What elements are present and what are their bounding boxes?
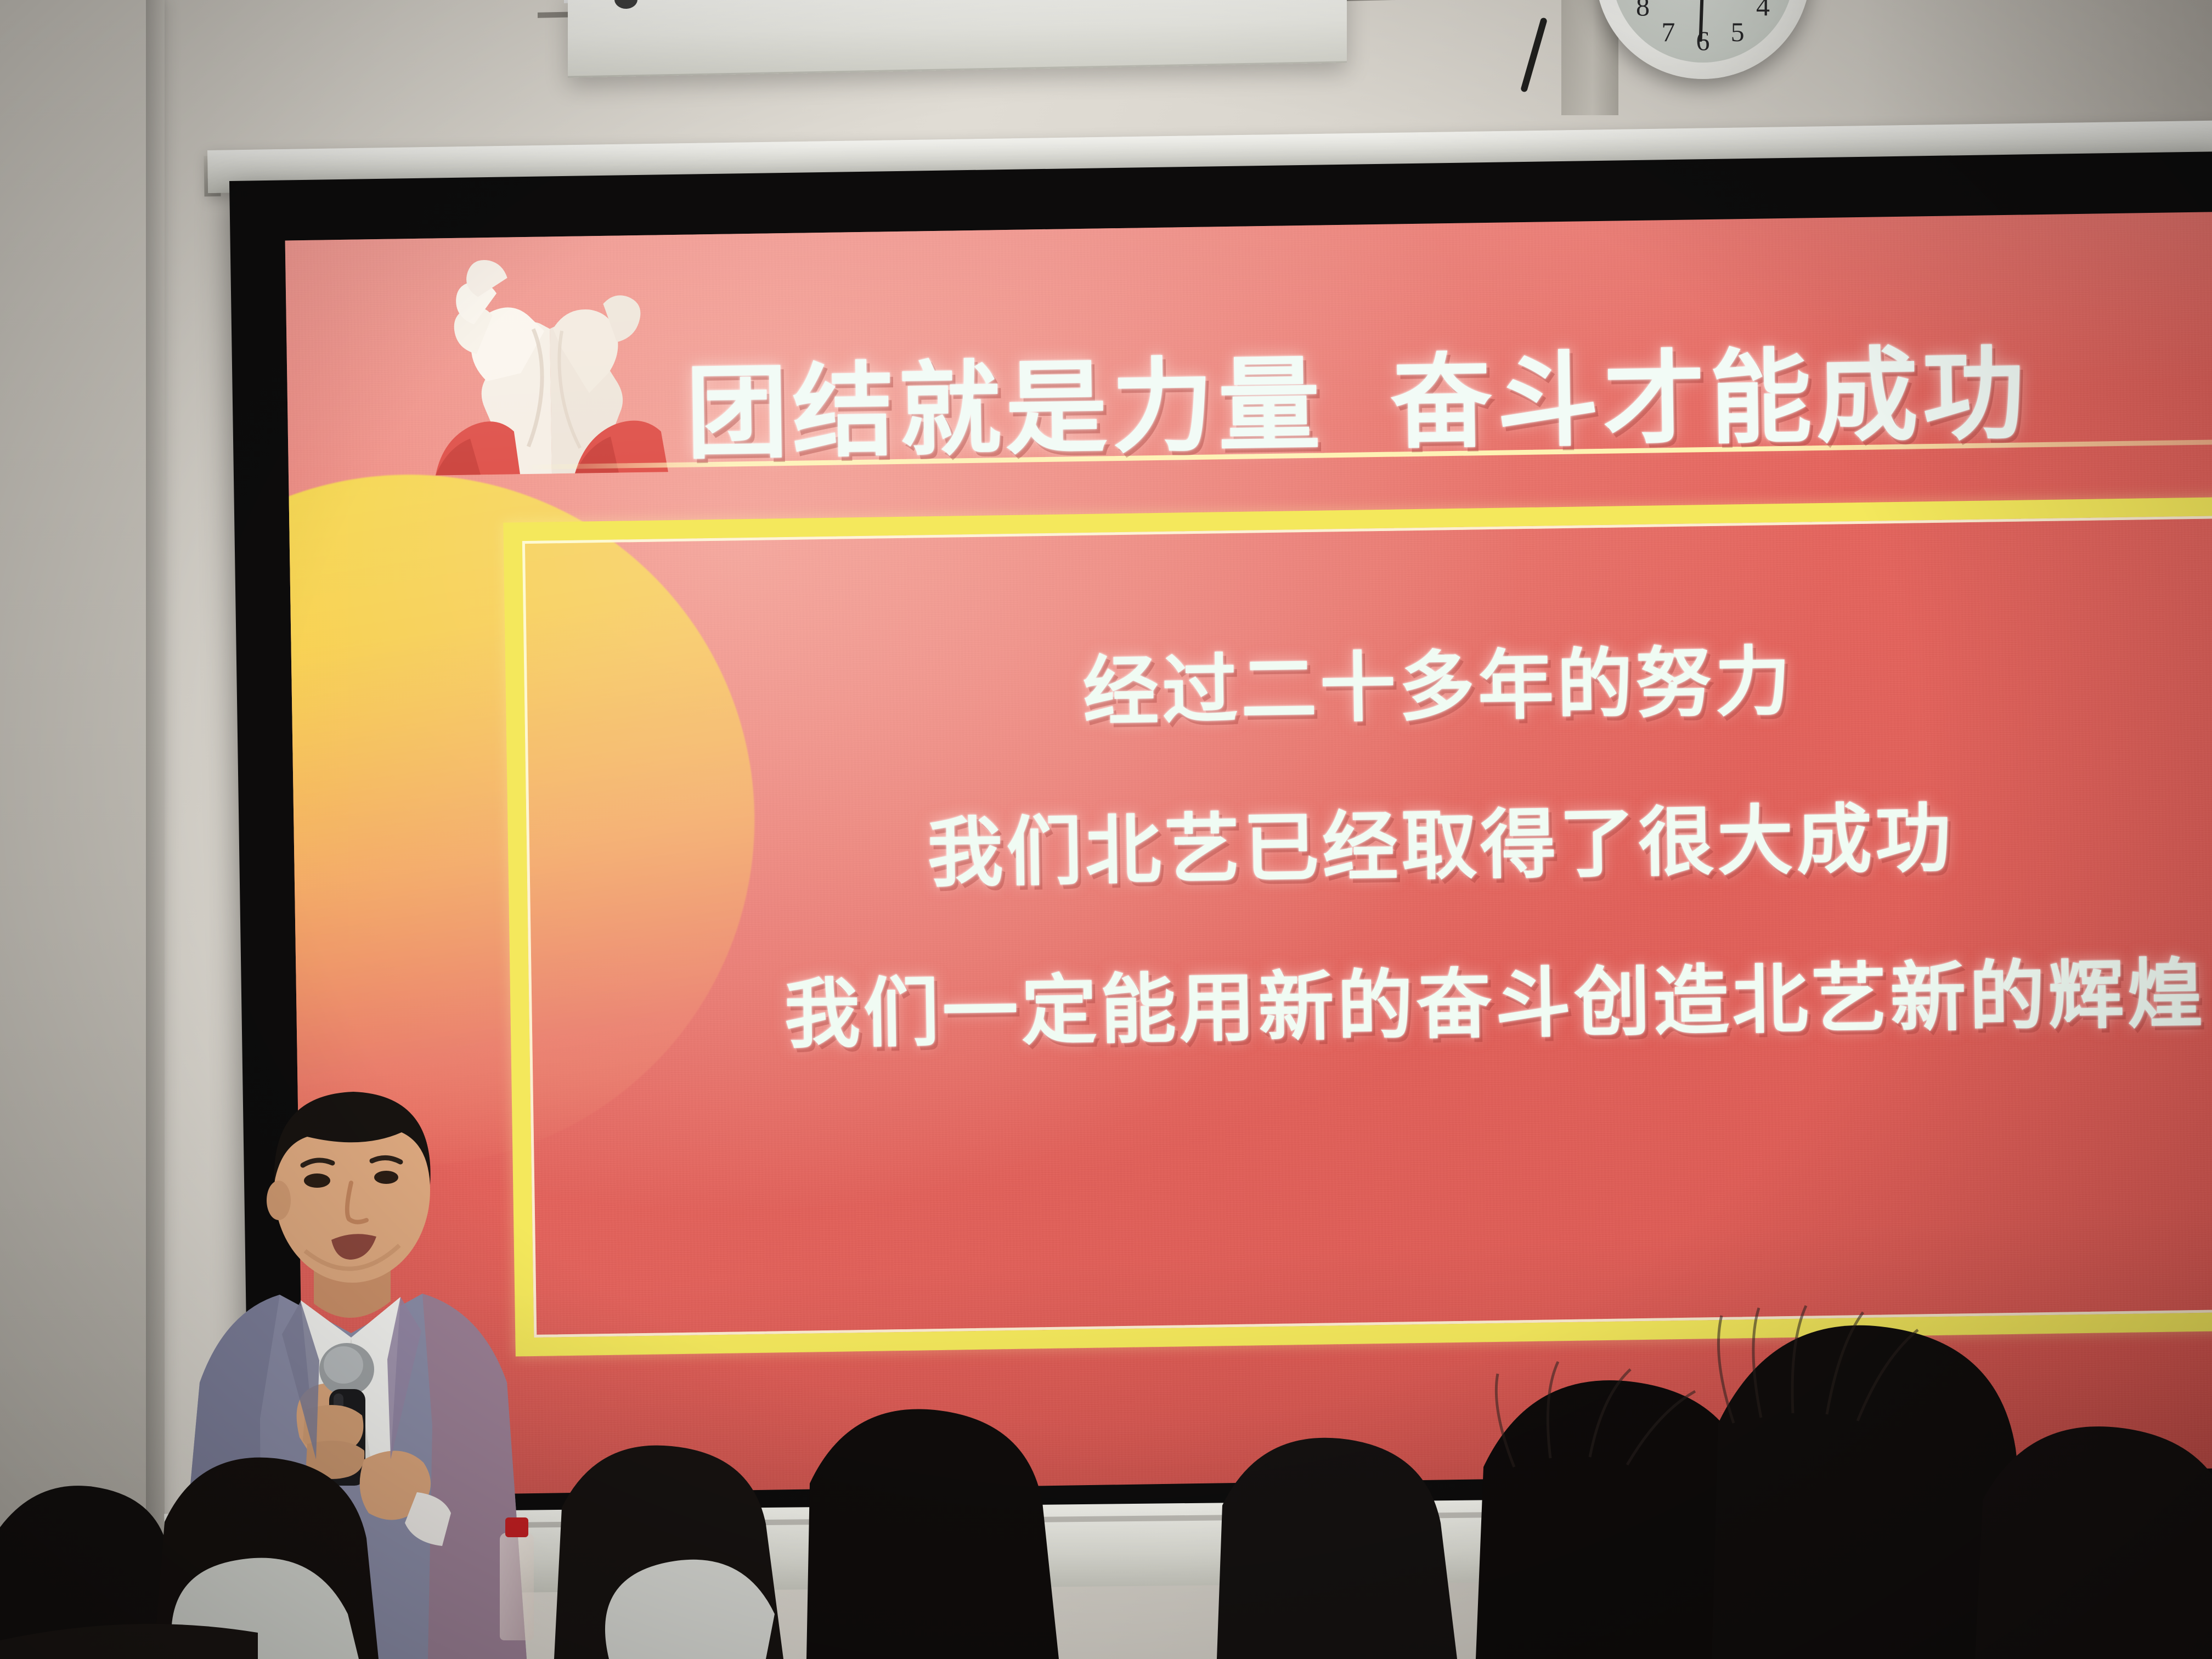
- lecture-hall-scene: 12 1 2 3 4 5 6 7 8 9 10 11: [0, 0, 2212, 1659]
- slide-title: 团结就是力量奋斗才能成功: [286, 308, 2212, 485]
- slide-title-part2: 奋斗才能成功: [1390, 334, 2030, 462]
- slide-body-line-2: 我们北艺已经取得了很大成功: [507, 753, 2212, 939]
- slide-body-line-1: 经过二十多年的努力: [505, 594, 2212, 780]
- slide-body-line-3: 我们一定能用新的奋斗创造北艺新的辉煌: [614, 912, 2212, 1097]
- clock-numeral-5: 5: [1731, 16, 1745, 48]
- audience-heads: [0, 1286, 2212, 1659]
- clock-numeral-6: 6: [1696, 25, 1710, 57]
- wall-clock: 12 1 2 3 4 5 6 7 8 9 10 11: [1595, 0, 1810, 79]
- slide-body-text: 经过二十多年的努力 我们北艺已经取得了很大成功 我们一定能用新的奋斗创造北艺新的…: [505, 594, 2212, 1098]
- clock-numeral-8: 8: [1636, 0, 1650, 22]
- slide-title-part1: 团结就是力量: [685, 345, 1325, 473]
- clock-numeral-4: 4: [1756, 0, 1770, 22]
- clock-numeral-7: 7: [1661, 16, 1675, 48]
